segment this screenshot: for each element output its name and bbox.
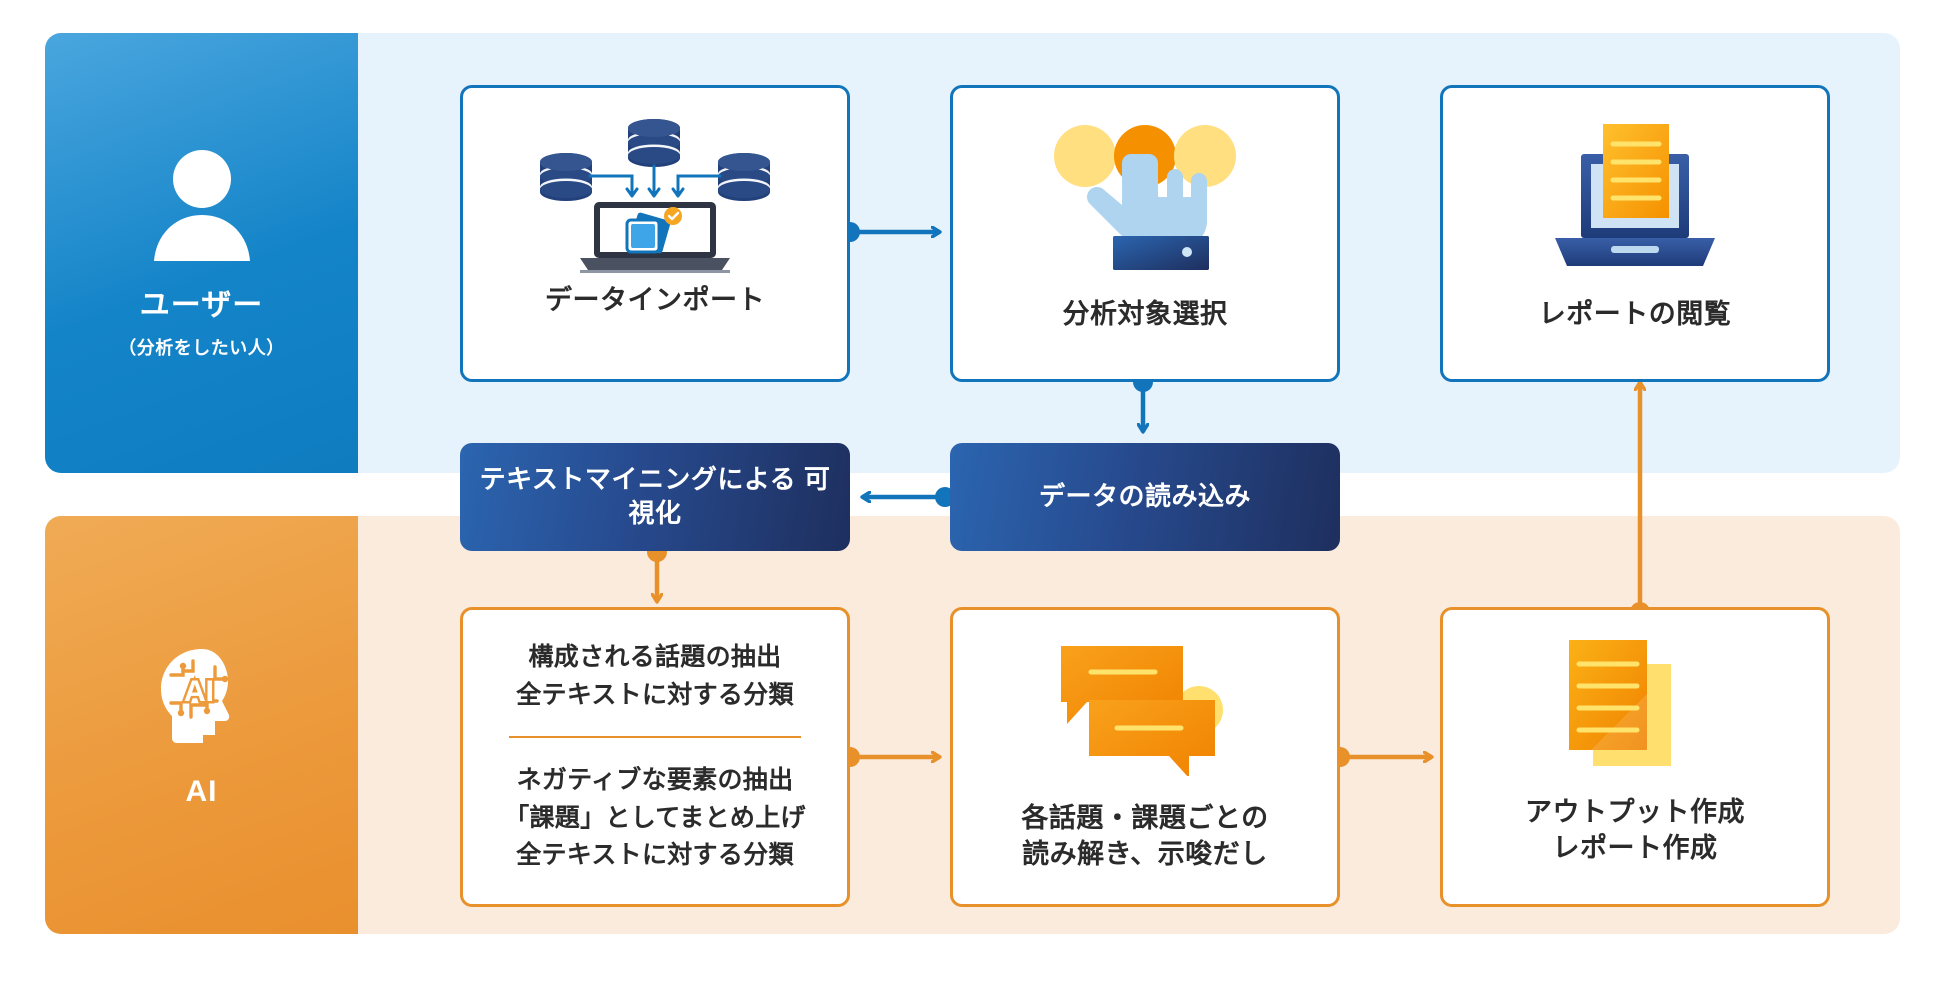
documents-icon <box>1545 634 1725 774</box>
pill-label-visualize: テキストマイニングによる 可視化 <box>472 463 838 531</box>
pill-load-data: データの読み込み <box>950 443 1340 551</box>
connector-load-to-visualize <box>862 487 955 507</box>
pill-label-load-data: データの読み込み <box>1039 480 1251 514</box>
card-select-target[interactable]: 分析対象選択 <box>950 85 1340 382</box>
card-label-select-target: 分析対象選択 <box>1063 296 1228 332</box>
hand-pointer-icon <box>1045 114 1245 274</box>
card-label-data-import: データインポート <box>545 282 765 318</box>
lane-title-user: ユーザー <box>140 288 263 324</box>
lane-header-ai: AI AI AI <box>45 516 358 934</box>
svg-text:AI: AI <box>184 675 214 708</box>
card-label-create-output: アウトプット作成 レポート作成 <box>1525 794 1745 867</box>
card-label-view-report: レポートの閲覧 <box>1539 296 1732 332</box>
card-extract-classify[interactable]: 構成される話題の抽出 全テキストに対する分類 ネガティブな要素の抽出 「課題」と… <box>460 607 850 907</box>
card-interpret[interactable]: 各話題・課題ごとの 読み解き、示唆だし <box>950 607 1340 907</box>
laptop-document-icon <box>1535 112 1735 272</box>
database-to-laptop-icon <box>528 106 783 276</box>
person-icon <box>150 147 254 270</box>
pill-visualize: テキストマイニングによる 可視化 <box>460 443 850 551</box>
card-create-output[interactable]: アウトプット作成 レポート作成 <box>1440 607 1830 907</box>
section-divider <box>509 736 801 738</box>
ai-head-icon: AI AI <box>147 641 257 756</box>
lane-header-user: ユーザー （分析をしたい人） <box>45 33 358 473</box>
card-view-report[interactable]: レポートの閲覧 <box>1440 85 1830 382</box>
speech-bubbles-icon <box>1045 636 1245 776</box>
text-block-topics: 構成される話題の抽出 全テキストに対する分類 <box>516 639 794 714</box>
text-block-negatives: ネガティブな要素の抽出 「課題」としてまとめ上げ 全テキストに対する分類 <box>504 762 806 875</box>
lane-title-ai: AI <box>186 774 218 810</box>
lane-subtitle-user: （分析をしたい人） <box>118 334 285 360</box>
flow-diagram: ユーザー （分析をしたい人） <box>0 0 1950 991</box>
card-label-interpret: 各話題・課題ごとの 読み解き、示唆だし <box>1021 800 1268 873</box>
card-data-import[interactable]: データインポート <box>460 85 850 382</box>
